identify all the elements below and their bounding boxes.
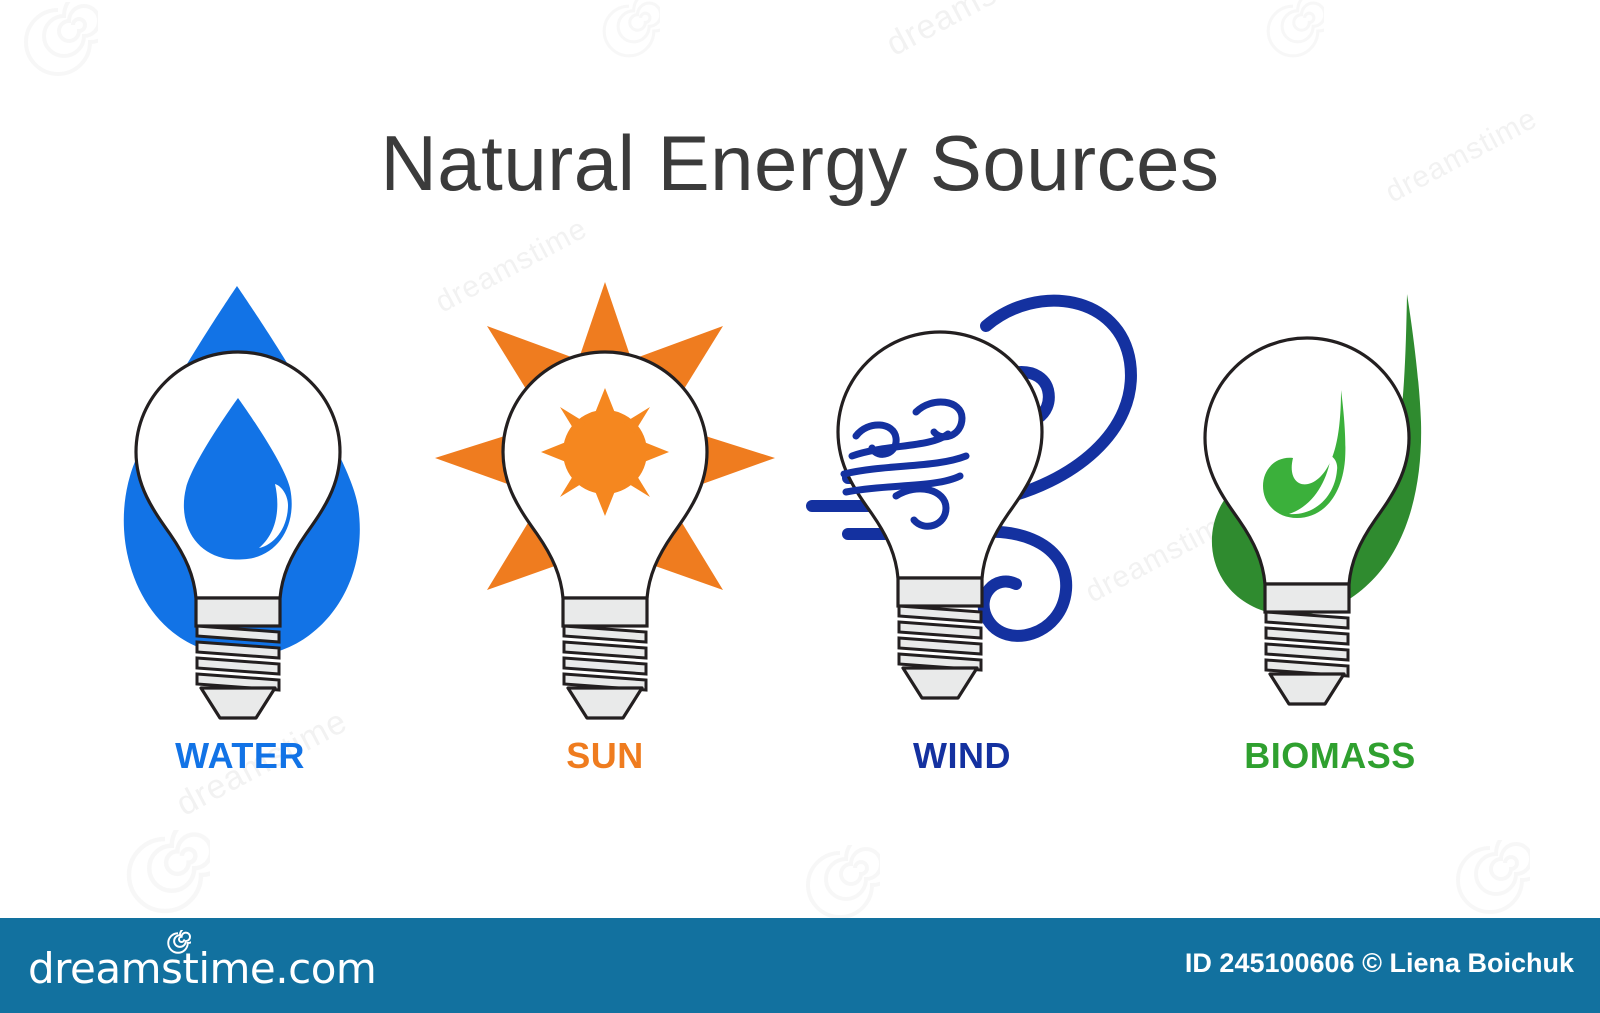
dreamstime-footer-bar: dreamstime.com ID 245100606 © Liena Boic…: [0, 918, 1600, 1013]
spiral-icon: [18, 2, 98, 82]
bulb-base-collar: [1265, 584, 1349, 612]
spiral-icon: [120, 830, 210, 920]
image-credit: ID 245100606 © Liena Boichuk: [1185, 948, 1574, 979]
bulb-base-threads: [564, 626, 646, 690]
spiral-icon: [165, 930, 191, 956]
spiral-icon: [598, 0, 660, 62]
spiral-icon: [800, 845, 880, 925]
bulb-base-collar: [898, 578, 982, 606]
spiral-icon: [1450, 840, 1530, 920]
bulb-base-tip: [1270, 674, 1344, 704]
label-water: WATER: [60, 735, 420, 777]
energy-source-icon-biomass[interactable]: [1155, 270, 1515, 720]
label-biomass: BIOMASS: [1150, 735, 1510, 777]
bulb-base-threads: [1266, 612, 1348, 676]
bulb-base-tip: [568, 688, 642, 718]
bulb-base-collar: [196, 598, 280, 626]
spiral-icon: [1262, 0, 1324, 62]
label-sun: SUN: [425, 735, 785, 777]
energy-source-icon-wind[interactable]: [790, 270, 1150, 720]
energy-source-icon-sun[interactable]: [425, 270, 785, 720]
bulb-base-threads: [899, 606, 981, 670]
page-title: Natural Energy Sources: [0, 118, 1600, 209]
dreamstime-logo[interactable]: dreamstime.com: [28, 942, 376, 990]
watermark-text: dreamstime: [880, 0, 1064, 64]
energy-source-label-row: WATER SUN WIND BIOMASS: [0, 735, 1600, 795]
sun-icon: [541, 388, 669, 516]
energy-source-icon-water[interactable]: [60, 270, 420, 720]
bulb-base-tip: [903, 668, 977, 698]
label-wind: WIND: [782, 735, 1142, 777]
dreamstime-logo-text: dreamstime.com: [28, 948, 376, 990]
energy-source-icon-row: [0, 270, 1600, 720]
bulb-base-tip: [201, 688, 275, 718]
bulb-base-threads: [197, 626, 279, 690]
bulb-base-collar: [563, 598, 647, 626]
